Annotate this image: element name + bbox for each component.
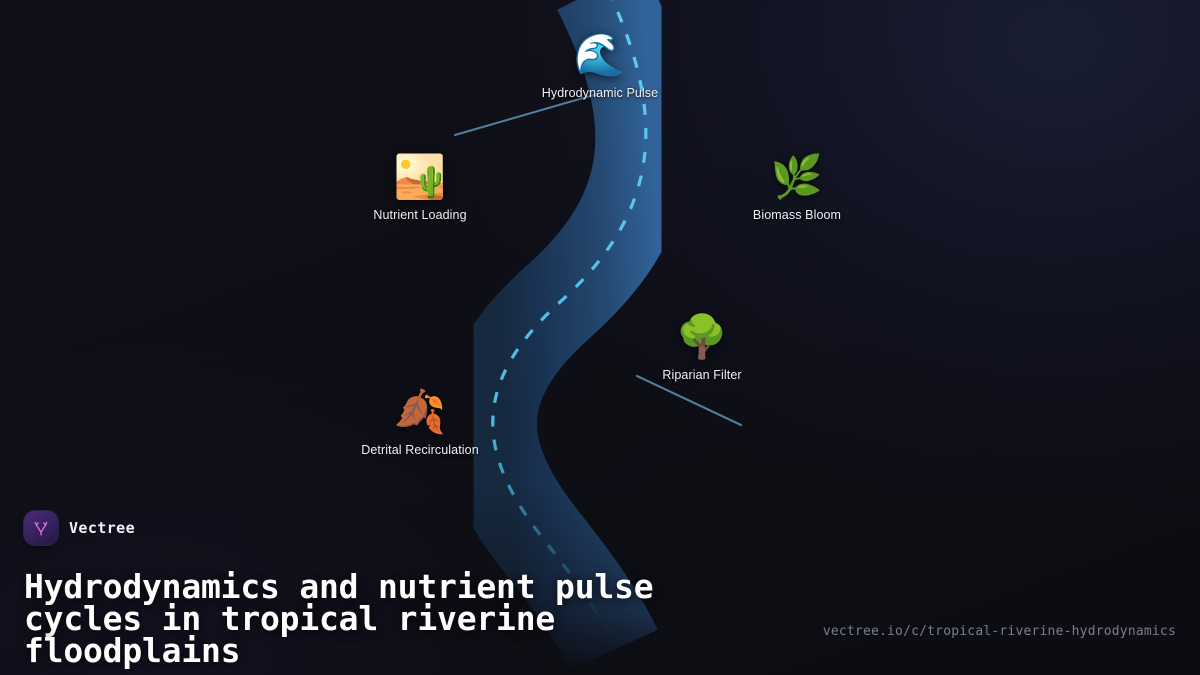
wave-icon: 🌊 xyxy=(574,30,626,80)
connector-riparian-filter-to-downstream xyxy=(637,376,741,425)
page-title: Hydrodynamics and nutrient pulse cycles … xyxy=(24,571,784,667)
node-detrital-recirculation[interactable]: 🍂 Detrital Recirculation xyxy=(340,387,500,457)
node-label-nutrient-loading: Nutrient Loading xyxy=(373,208,466,222)
node-biomass-bloom[interactable]: 🌿 Biomass Bloom xyxy=(717,152,877,222)
vectree-logo-icon xyxy=(24,511,58,545)
herb-icon: 🌿 xyxy=(771,152,823,202)
desert-icon: 🏜️ xyxy=(394,152,446,202)
footer-url: vectree.io/c/tropical-riverine-hydrodyna… xyxy=(823,624,1176,639)
connector-nutrient-loading-to-hydrodynamic-pulse xyxy=(455,94,597,135)
node-riparian-filter[interactable]: 🌳 Riparian Filter xyxy=(622,312,782,382)
node-label-riparian-filter: Riparian Filter xyxy=(662,368,741,382)
node-label-biomass-bloom: Biomass Bloom xyxy=(753,208,841,222)
infographic-canvas: 🌊 Hydrodynamic Pulse 🏜️ Nutrient Loading… xyxy=(0,0,1200,675)
node-label-detrital-recirculation: Detrital Recirculation xyxy=(361,443,479,457)
fallen-leaf-icon: 🍂 xyxy=(394,387,446,437)
tree-icon: 🌳 xyxy=(676,312,728,362)
node-label-hydrodynamic-pulse: Hydrodynamic Pulse xyxy=(542,86,658,100)
node-hydrodynamic-pulse[interactable]: 🌊 Hydrodynamic Pulse xyxy=(520,30,680,100)
brand-name: Vectree xyxy=(69,519,135,537)
brand[interactable]: Vectree xyxy=(24,511,135,545)
node-nutrient-loading[interactable]: 🏜️ Nutrient Loading xyxy=(340,152,500,222)
